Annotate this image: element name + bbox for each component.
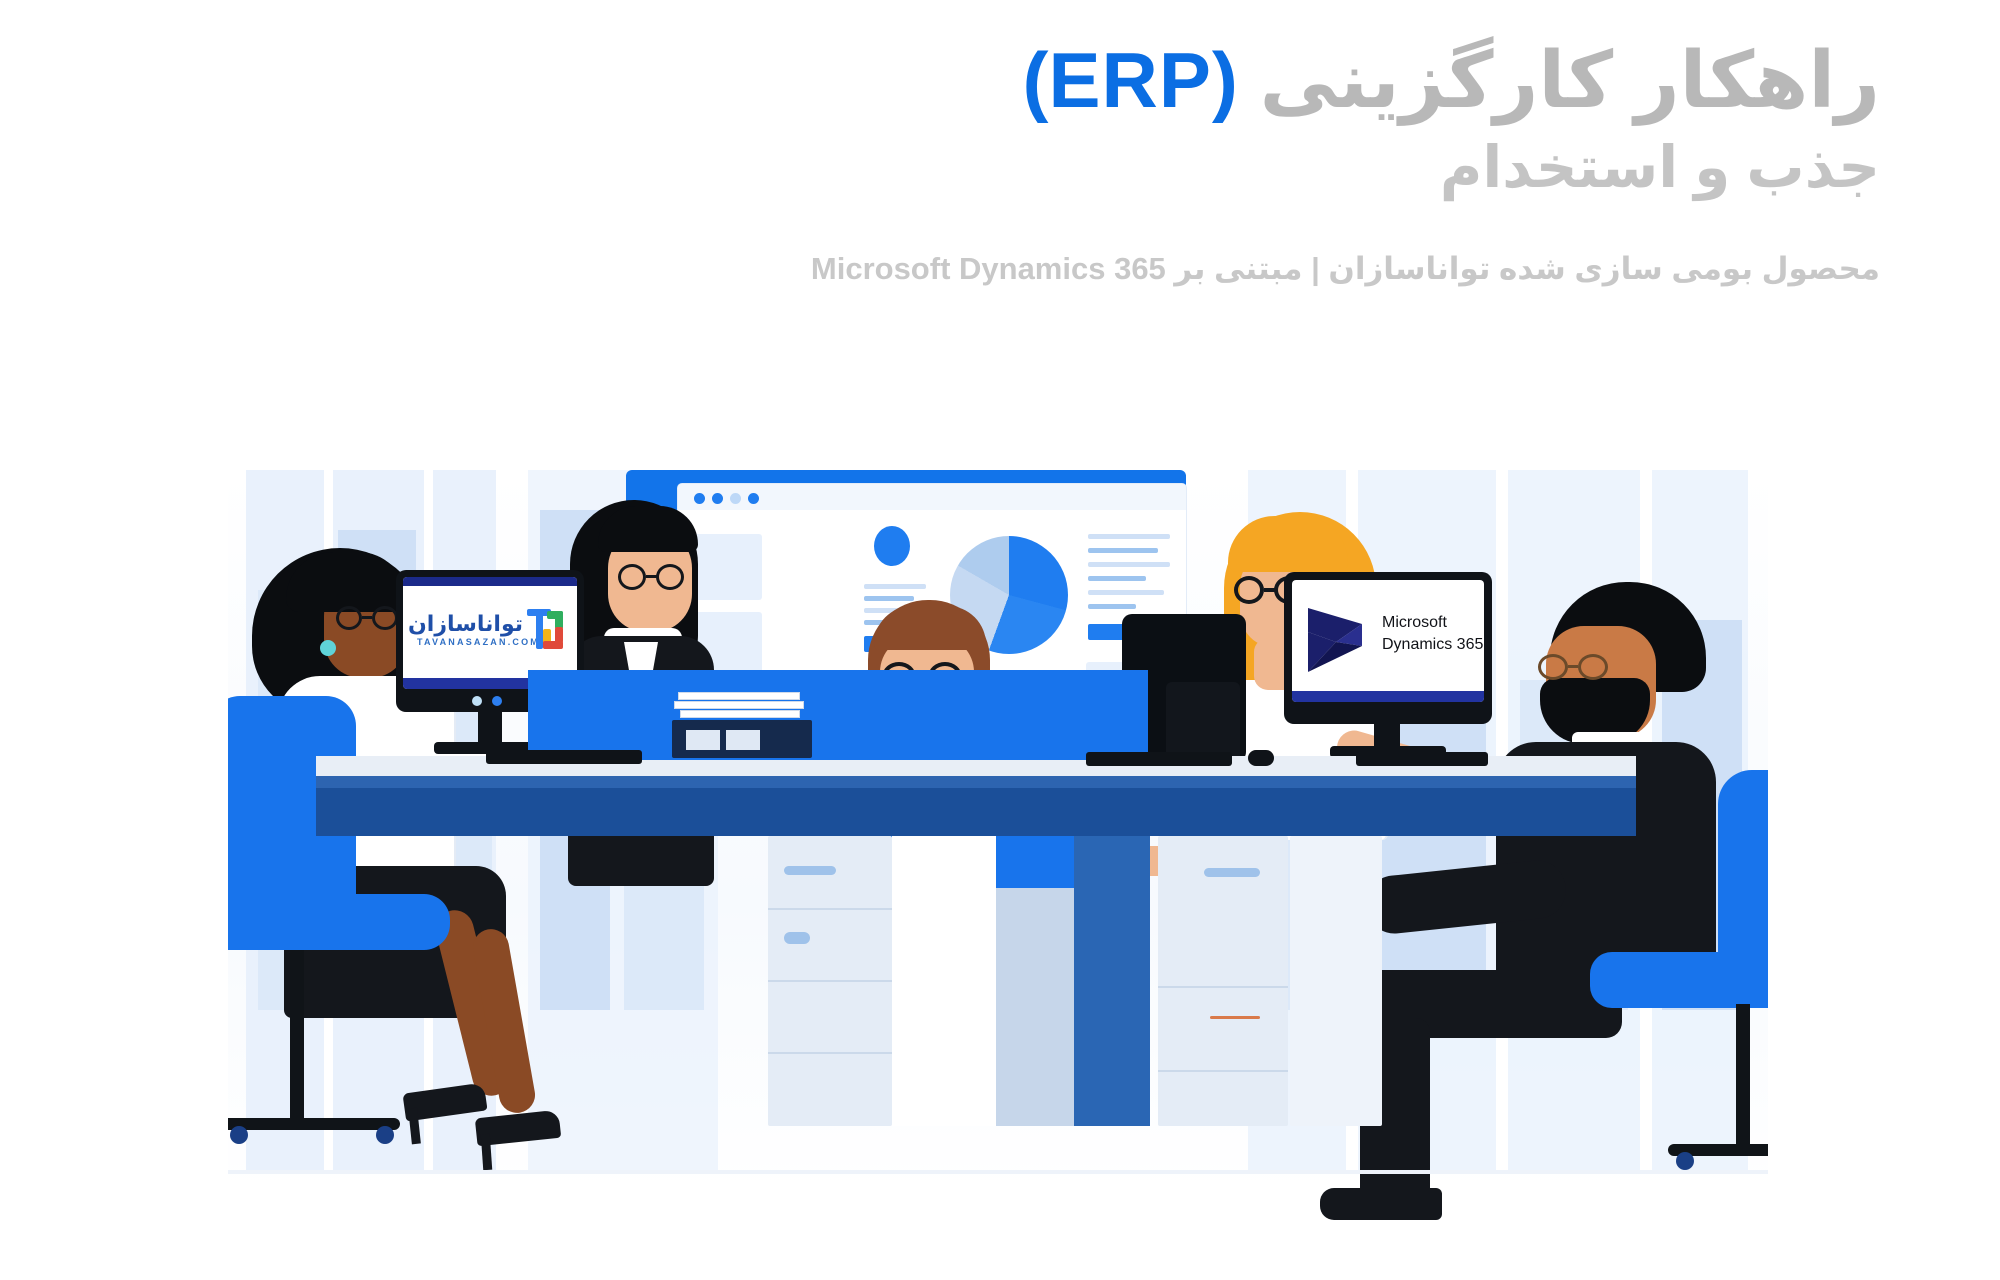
tavanasazan-brand-url: TAVANASAZAN.COM (417, 637, 523, 647)
left-monitor-led-2 (492, 696, 502, 706)
paper-stack (678, 692, 800, 700)
left-monitor-led-1 (472, 696, 482, 706)
right-monitor-screen: Microsoft Dynamics 365 (1292, 580, 1484, 702)
keyboard-left[interactable] (486, 750, 642, 764)
dash-text-line-1 (864, 584, 926, 589)
dash-text-line-7 (1088, 562, 1170, 567)
chair-left-caster-1 (230, 1126, 248, 1144)
cabinet-mid-pale (996, 888, 1074, 1126)
page-title-accent: (ERP) (1023, 36, 1238, 124)
cabinet-left-line-1 (768, 908, 892, 910)
page-title-text: راهکار کارگزینی (1238, 36, 1880, 124)
dash-text-line-6 (1088, 548, 1158, 553)
cabinet-left-line-3 (768, 1052, 892, 1054)
chair-right-seat[interactable] (1590, 952, 1768, 1008)
dynamics-365-arrow-icon (1306, 602, 1370, 674)
left-monitor-stand (478, 710, 502, 746)
page-title: راهکار کارگزینی (ERP) (0, 34, 1880, 126)
keyboard-right[interactable] (1356, 752, 1488, 766)
cabinet-center-panel (892, 836, 996, 1126)
dash-text-line-5 (1088, 534, 1170, 539)
chair-left-base (228, 1118, 400, 1130)
tavanasazan-brand-fa: تواناسازان (417, 611, 523, 637)
cabinet-right (1158, 836, 1288, 1126)
dash-text-line-8 (1088, 576, 1146, 581)
keyboard-center[interactable] (1086, 752, 1232, 766)
tavanasazan-logo: تواناسازان TAVANASAZAN.COM (417, 611, 563, 657)
left-woman-glasses-icon (336, 606, 404, 630)
dynamics-brand-line2: Dynamics 365 (1382, 636, 1484, 654)
tray-slot-2 (726, 730, 760, 750)
cabinet-left-handle-2[interactable] (784, 932, 810, 944)
cabinet-right-handle-2[interactable] (1210, 1016, 1260, 1019)
office-team-illustration: تواناسازان TAVANASAZAN.COM (228, 470, 1768, 1230)
cabinet-left-line-2 (768, 980, 892, 982)
dynamics-brand-line1: Microsoft (1382, 614, 1482, 632)
chair-left-seat[interactable] (228, 894, 450, 950)
presenter-hair-front (598, 506, 698, 552)
page-header: راهکار کارگزینی (ERP) جذب و استخدام محصو… (0, 0, 2000, 287)
left-monitor-top-strip (403, 577, 577, 586)
document-tray (672, 720, 812, 758)
chair-left-caster-2 (376, 1126, 394, 1144)
tray-slot-1 (686, 730, 720, 750)
cabinet-right-line-1 (1158, 986, 1288, 988)
cabinet-right-handle-1[interactable] (1204, 868, 1260, 877)
mouse-right[interactable] (1248, 750, 1274, 766)
cabinet-left-handle-1[interactable] (784, 866, 836, 875)
right-monitor[interactable]: Microsoft Dynamics 365 (1284, 572, 1492, 724)
cabinet-far-right (1290, 836, 1382, 1126)
left-woman-earring-icon (320, 640, 336, 656)
cabinet-right-line-2 (1158, 1070, 1288, 1072)
page-root: راهکار کارگزینی (ERP) جذب و استخدام محصو… (0, 0, 2000, 1280)
ts-logo-icon (527, 609, 565, 651)
cabinet-mid-blue (996, 836, 1074, 892)
floor-line (228, 1170, 1768, 1174)
chair-left-pole (290, 950, 304, 1126)
kpi-circle-icon (874, 526, 910, 566)
page-tagline: محصول بومی سازی شده تواناسازان | مبتنی ب… (0, 251, 1880, 287)
right-monitor-bottom-strip (1292, 691, 1484, 702)
dash-text-line-9 (1088, 590, 1164, 595)
presenter-glasses-icon (618, 564, 690, 590)
left-woman-hair-front (286, 552, 406, 612)
paper-stack-2 (674, 701, 804, 709)
desk-back-panel (528, 670, 1148, 760)
page-subtitle-heading: جذب و استخدام (0, 130, 1880, 205)
paper-stack-3 (680, 710, 800, 718)
chair-right-pole (1736, 1004, 1750, 1150)
right-man-shoe (1320, 1188, 1442, 1220)
desk-front-panel (316, 788, 1636, 836)
chair-right-caster-1 (1676, 1152, 1694, 1170)
right-man-glasses-icon (1538, 654, 1616, 680)
center-man-hair-front (874, 606, 986, 650)
cabinet-left (768, 836, 892, 1126)
desk-leg-panel (1074, 836, 1150, 1126)
